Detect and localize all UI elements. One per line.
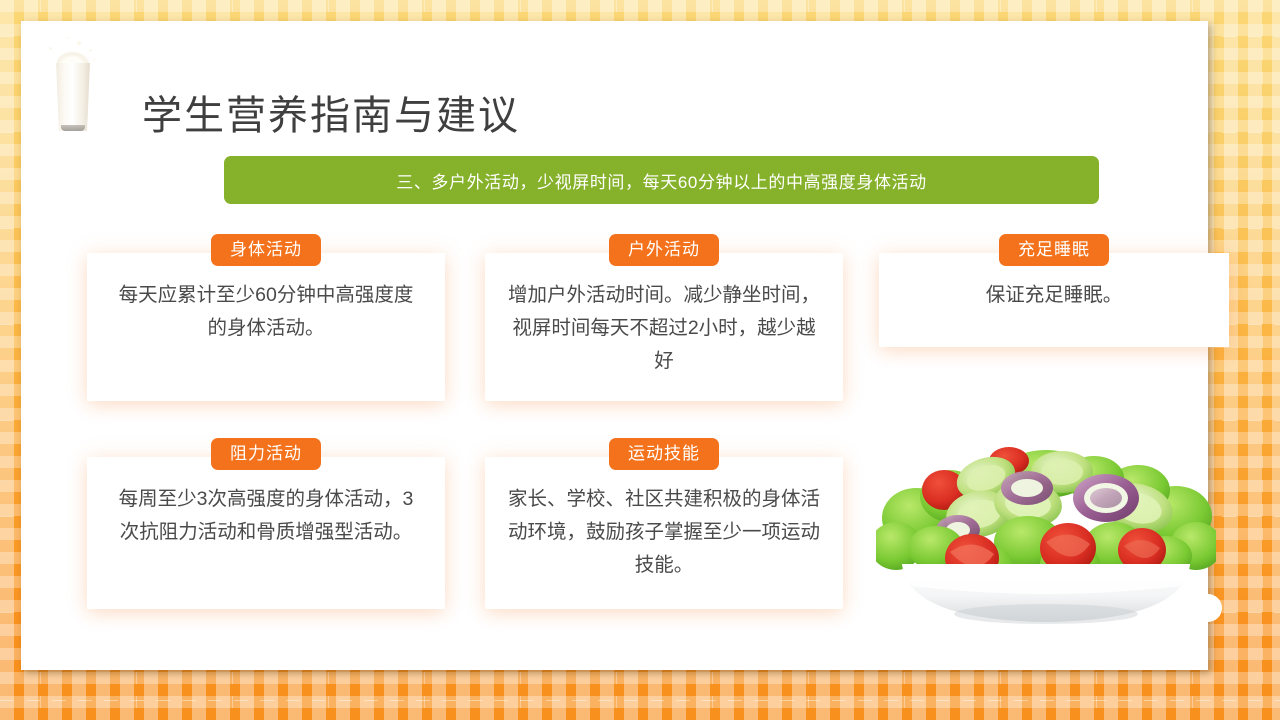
info-card-resistance-activity[interactable]: 阻力活动 每周至少3次高强度的身体活动，3次抗阻力活动和骨质增强型活动。 bbox=[87, 457, 445, 609]
card-body-text: 每天应累计至少60分钟中高强度度的身体活动。 bbox=[87, 253, 445, 345]
salad-bowl-image bbox=[876, 446, 1216, 629]
page-title: 学生营养指南与建议 bbox=[142, 83, 520, 141]
info-card-sufficient-sleep[interactable]: 充足睡眠 保证充足睡眠。 bbox=[879, 253, 1229, 347]
card-tag-label: 充足睡眠 bbox=[999, 234, 1109, 266]
card-tag-label: 运动技能 bbox=[609, 438, 719, 470]
info-card-physical-activity[interactable]: 身体活动 每天应累计至少60分钟中高强度度的身体活动。 bbox=[87, 253, 445, 401]
card-tag-label: 阻力活动 bbox=[211, 438, 321, 470]
card-tag-label: 户外活动 bbox=[609, 234, 719, 266]
info-card-outdoor-activity[interactable]: 户外活动 增加户外活动时间。减少静坐时间，视屏时间每天不超过2小时，越少越好 bbox=[485, 253, 843, 401]
slide-panel: 学生营养指南与建议 三、多户外活动，少视屏时间，每天60分钟以上的中高强度身体活… bbox=[21, 21, 1208, 670]
card-body-text: 增加户外活动时间。减少静坐时间，视屏时间每天不超过2小时，越少越好 bbox=[485, 253, 843, 378]
card-body-text: 家长、学校、社区共建积极的身体活动环境，鼓励孩子掌握至少一项运动技能。 bbox=[485, 457, 843, 582]
section-banner: 三、多户外活动，少视屏时间，每天60分钟以上的中高强度身体活动 bbox=[224, 156, 1099, 204]
card-tag-label: 身体活动 bbox=[211, 234, 321, 266]
section-banner-label: 三、多户外活动，少视屏时间，每天60分钟以上的中高强度身体活动 bbox=[396, 168, 927, 193]
card-body-text: 每周至少3次高强度的身体活动，3次抗阻力活动和骨质增强型活动。 bbox=[87, 457, 445, 549]
info-card-sports-skill[interactable]: 运动技能 家长、学校、社区共建积极的身体活动环境，鼓励孩子掌握至少一项运动技能。 bbox=[485, 457, 843, 609]
milk-glass-icon bbox=[47, 33, 99, 133]
